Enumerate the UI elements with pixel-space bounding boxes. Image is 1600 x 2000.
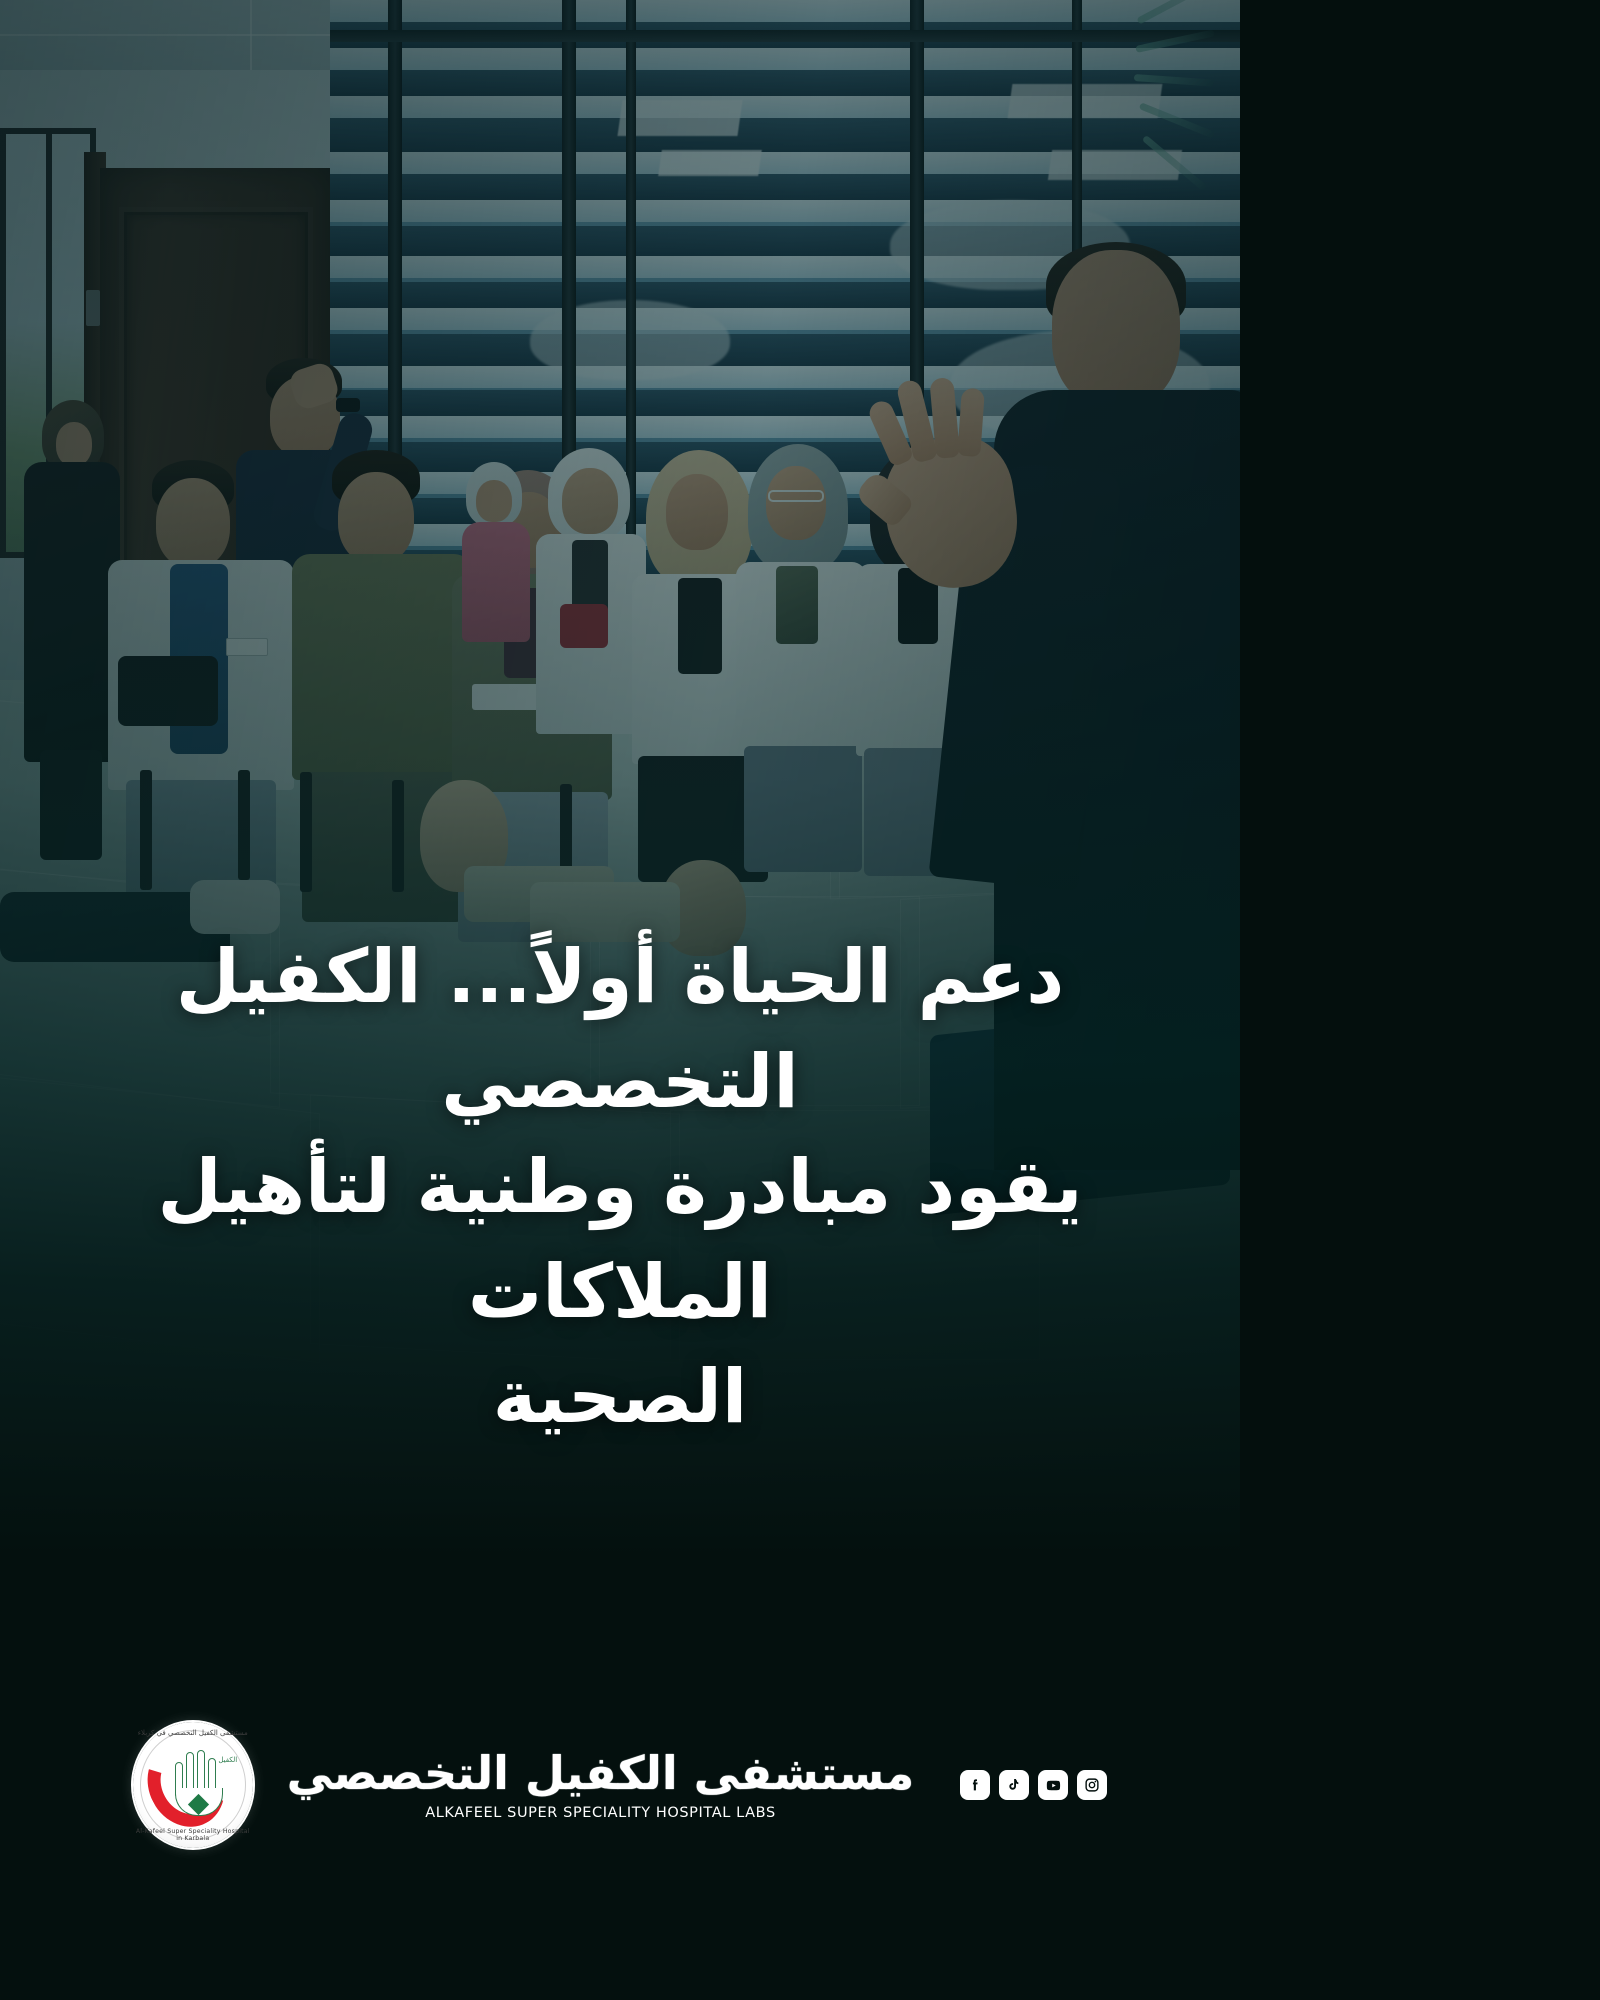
facebook-icon[interactable] xyxy=(960,1770,990,1800)
footer: مستشفى الكفيل التخصصي في كربلاء الكفيل A… xyxy=(0,1670,1240,2000)
headline-line-2: يقود مبادرة وطنية لتأهيل الملاكات xyxy=(40,1135,1200,1345)
youtube-icon[interactable] xyxy=(1038,1770,1068,1800)
seal-green-script: الكفيل xyxy=(217,1756,239,1765)
tiktok-icon[interactable] xyxy=(999,1770,1029,1800)
hospital-wordmark: مستشفى الكفيل التخصصي ALKAFEEL SUPER SPE… xyxy=(287,1750,914,1821)
seal-english-text: Al-Kafeel Super Speciality Hospital in K… xyxy=(133,1828,253,1842)
social-links xyxy=(960,1770,1107,1800)
headline-line-3: الصحية xyxy=(40,1345,1200,1450)
wordmark-english: ALKAFEEL SUPER SPECIALITY HOSPITAL LABS xyxy=(287,1805,914,1821)
wordmark-arabic: مستشفى الكفيل التخصصي xyxy=(287,1750,914,1796)
poster: دعم الحياة أولاً... الكفيل التخصصي يقود … xyxy=(0,0,1240,2000)
headline-line-1: دعم الحياة أولاً... الكفيل التخصصي xyxy=(40,925,1200,1135)
page-title: دعم الحياة أولاً... الكفيل التخصصي يقود … xyxy=(40,925,1200,1450)
hospital-seal-logo: مستشفى الكفيل التخصصي في كربلاء الكفيل A… xyxy=(133,1722,253,1848)
seal-arabic-text: مستشفى الكفيل التخصصي في كربلاء xyxy=(133,1729,253,1737)
instagram-icon[interactable] xyxy=(1077,1770,1107,1800)
